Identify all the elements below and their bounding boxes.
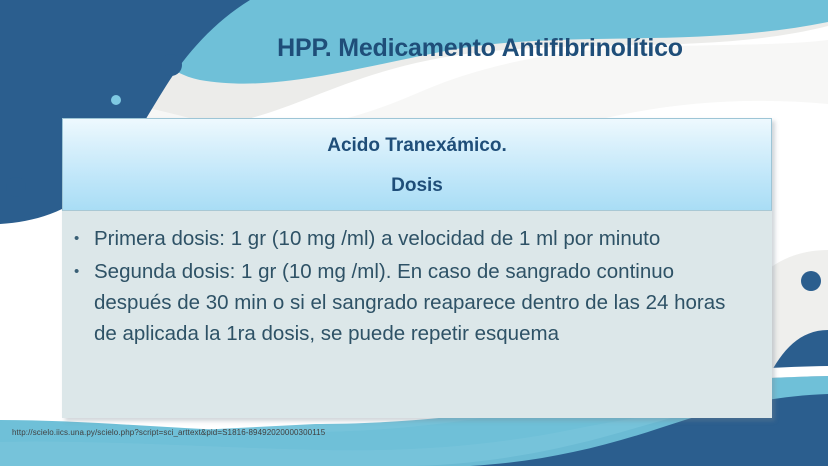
- list-item-text: Segunda dosis: 1 gr (10 mg /ml). En caso…: [94, 256, 754, 349]
- dot-right-navy: [801, 271, 821, 291]
- card-header: Acido Tranexámico. Dosis: [62, 118, 772, 211]
- list-item: • Segunda dosis: 1 gr (10 mg /ml). En ca…: [74, 256, 754, 349]
- dot-top-light-blue: [111, 95, 121, 105]
- content-card: Acido Tranexámico. Dosis • Primera dosis…: [62, 118, 772, 418]
- page-title: HPP. Medicamento Antifibrinolítico: [150, 34, 810, 63]
- bullet-icon: •: [74, 256, 94, 287]
- dot-left-navy: [6, 177, 26, 197]
- list-item-text: Primera dosis: 1 gr (10 mg /ml) a veloci…: [94, 223, 754, 254]
- card-body: • Primera dosis: 1 gr (10 mg /ml) a velo…: [62, 211, 772, 418]
- list-item: • Primera dosis: 1 gr (10 mg /ml) a velo…: [74, 223, 754, 254]
- source-url-footer[interactable]: http://scielo.iics.una.py/scielo.php?scr…: [12, 428, 325, 437]
- card-title-primary: Acido Tranexámico.: [63, 135, 771, 157]
- slide-canvas: HPP. Medicamento Antifibrinolítico Acido…: [0, 0, 828, 466]
- card-title-secondary: Dosis: [63, 175, 771, 197]
- bullet-icon: •: [74, 223, 94, 254]
